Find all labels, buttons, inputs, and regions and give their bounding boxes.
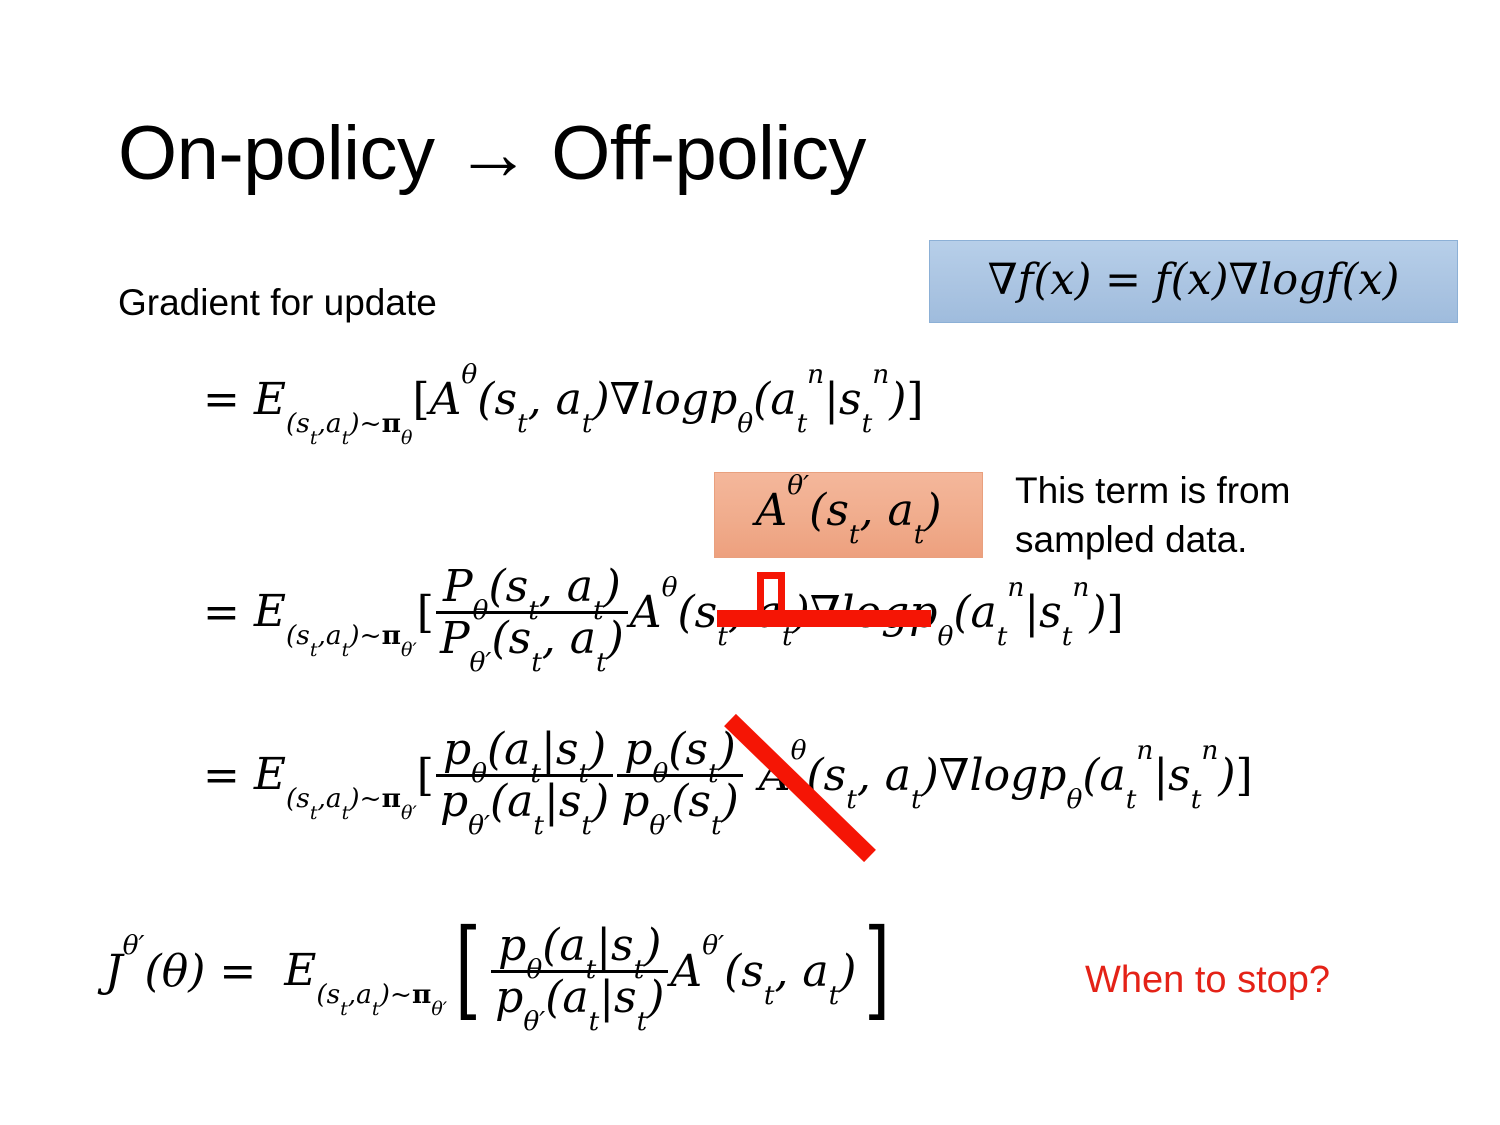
gradient-for-update-label: Gradient for update bbox=[118, 280, 437, 326]
red-outline-rectangle-icon bbox=[757, 572, 785, 621]
equation-line-1: = E(st,at)~πθ[Aθ(st, at)∇logpθ(atn|stn)] bbox=[203, 378, 924, 424]
equation-line-4: Jθ′(θ) = E(st,at)~πθ′[pθ(at|st)pθ′(at|st… bbox=[105, 918, 899, 1026]
orange-advantage-formula: Aθ′(st, at) bbox=[715, 473, 982, 533]
page-title: On-policy → Off-policy bbox=[118, 112, 866, 196]
equation-line-2: = E(st,at)~πθ′[Pθ(st, at)Pθ′(st, at)Aθ(s… bbox=[203, 565, 1124, 661]
red-strikethrough-line bbox=[717, 610, 931, 627]
blue-identity-callout-box: ∇f(x) = f(x)∇logf(x) bbox=[929, 240, 1458, 323]
orange-advantage-callout-box: Aθ′(st, at) bbox=[714, 472, 983, 558]
slide-canvas: On-policy → Off-policy Gradient for upda… bbox=[0, 0, 1500, 1125]
sampled-data-note: This term is from sampled data. bbox=[1015, 466, 1385, 564]
blue-identity-formula: ∇f(x) = f(x)∇logf(x) bbox=[930, 241, 1457, 302]
when-to-stop-label: When to stop? bbox=[1085, 957, 1330, 1005]
equation-line-3: = E(st,at)~πθ′[pθ(at|st)pθ′(at|st)pθ(st)… bbox=[203, 728, 1253, 824]
